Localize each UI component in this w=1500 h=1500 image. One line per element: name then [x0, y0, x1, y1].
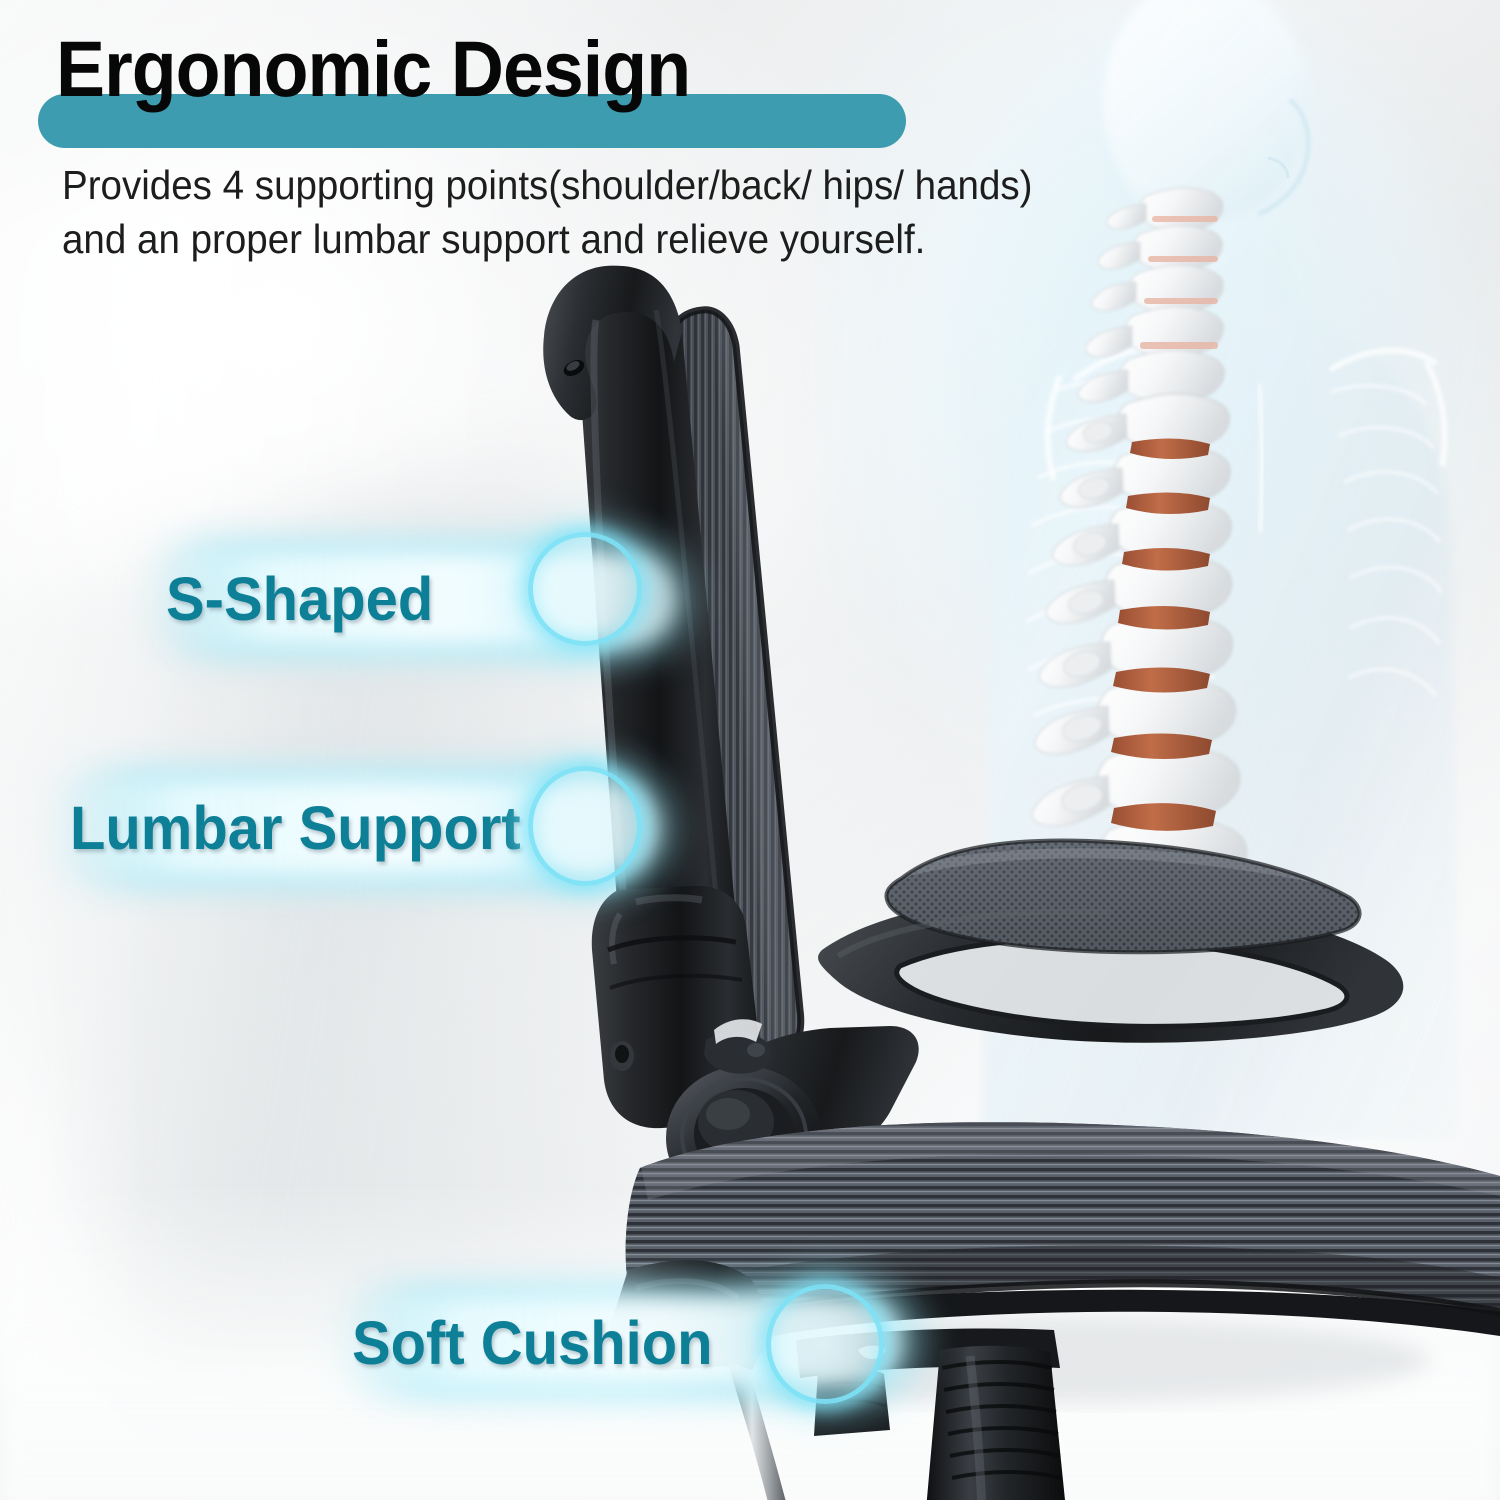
- infographic-canvas: Ergonomic Design Provides 4 supporting p…: [0, 0, 1500, 1500]
- callout-label-lumbar-support: Lumbar Support: [70, 784, 521, 872]
- callout-s-shaped: S-Shaped: [118, 506, 738, 696]
- subtitle-line-1: Provides 4 supporting points(shoulder/ba…: [62, 158, 1246, 212]
- glow-ring-icon: [528, 766, 642, 886]
- glow-ring-icon: [528, 532, 642, 646]
- callout-label-s-shaped: S-Shaped: [166, 556, 433, 642]
- callout-label-soft-cushion: Soft Cushion: [352, 1300, 713, 1386]
- page-title: Ergonomic Design: [56, 26, 986, 112]
- glow-ring-icon: [766, 1284, 884, 1404]
